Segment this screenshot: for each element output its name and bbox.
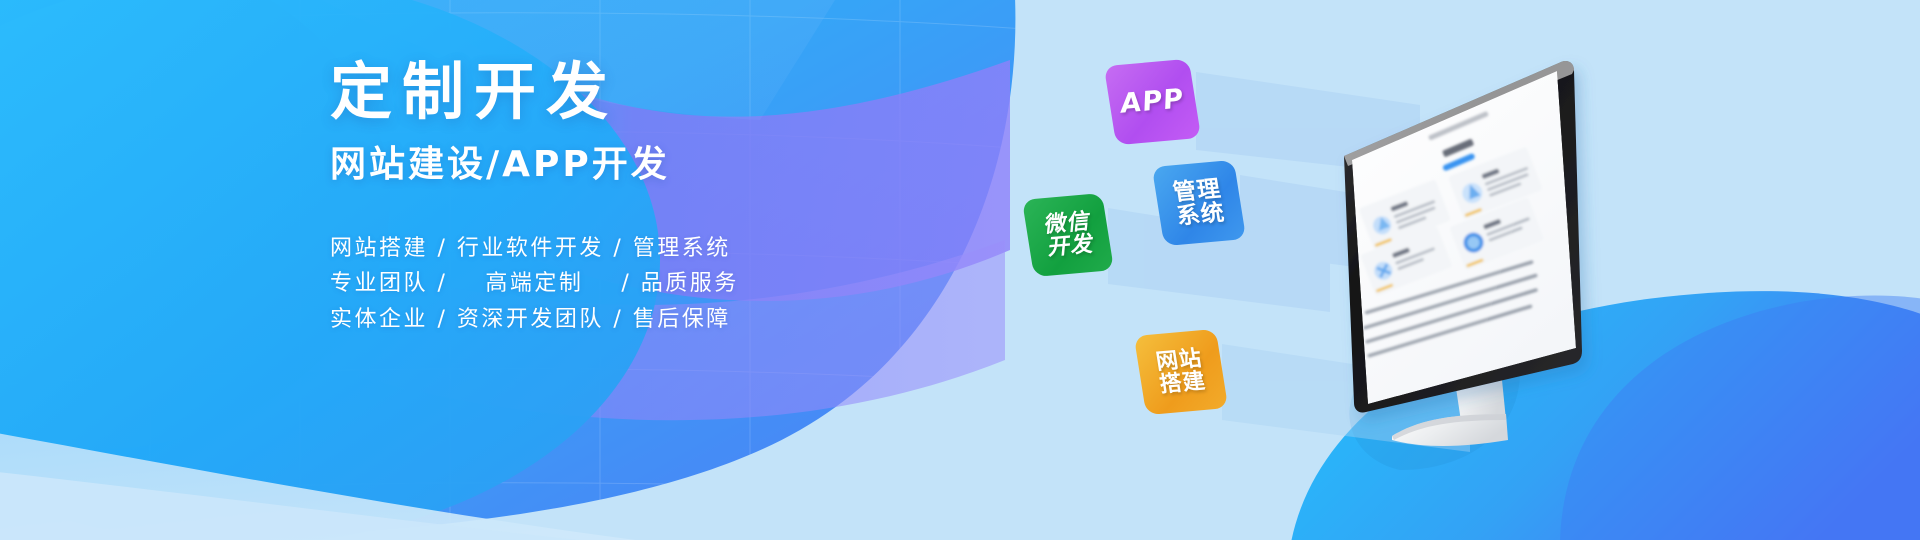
feature-line-3: 实体企业 / 资深开发团队 / 售后保障 (330, 302, 890, 338)
page-subtitle: 网站建设/APP开发 (330, 145, 890, 185)
card-management-system[interactable]: 管理 系统 (1152, 160, 1246, 246)
promo-banner: 定制开发 网站建设/APP开发 网站搭建 / 行业软件开发 / 管理系统 专业团… (0, 0, 1920, 540)
card-management-label-2: 系统 (1175, 201, 1227, 229)
monitor-graphic (1330, 48, 1660, 468)
banner-copy: 定制开发 网站建设/APP开发 网站搭建 / 行业软件开发 / 管理系统 专业团… (330, 60, 890, 338)
feature-list: 网站搭建 / 行业软件开发 / 管理系统 专业团队 / 高端定制 / 品质服务 … (330, 231, 890, 338)
card-wechat-development[interactable]: 微信 开发 (1022, 193, 1114, 277)
page-title: 定制开发 (330, 60, 890, 123)
feature-line-2: 专业团队 / 高端定制 / 品质服务 (330, 266, 890, 302)
feature-line-1: 网站搭建 / 行业软件开发 / 管理系统 (330, 231, 890, 267)
desktop-monitor (1330, 48, 1660, 468)
card-website-label-2: 搭建 (1158, 370, 1208, 397)
card-app[interactable]: APP (1104, 59, 1201, 145)
card-app-label-1: APP (1119, 85, 1187, 119)
card-website-building[interactable]: 网站 搭建 (1134, 329, 1228, 415)
card-wechat-label-2: 开发 (1045, 233, 1095, 260)
